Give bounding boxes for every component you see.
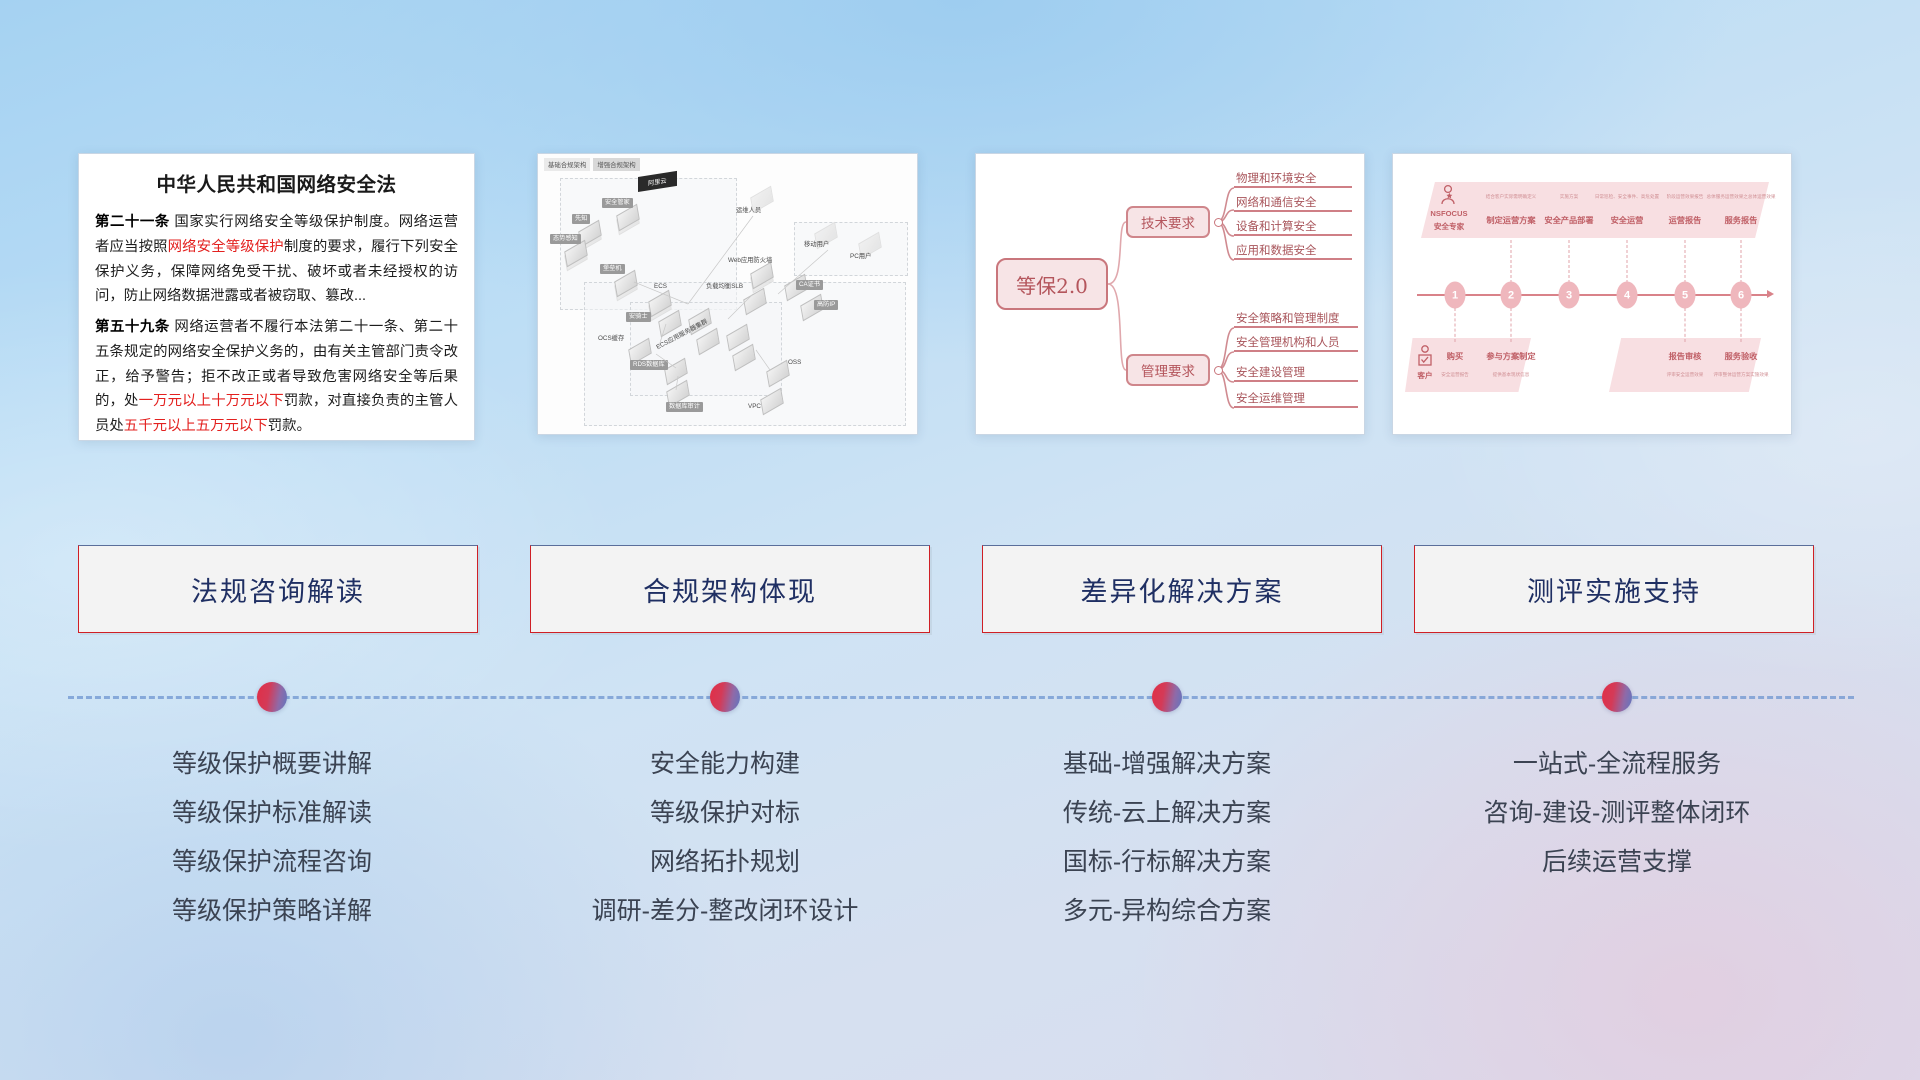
flow-step-4[interactable]: 4: [1617, 282, 1638, 309]
list-item: 国标-行标解决方案: [957, 838, 1377, 887]
article-59-text-c: 罚款。: [268, 418, 311, 434]
list-item: 等级保护策略详解: [62, 887, 482, 936]
timeline-dot-4[interactable]: [1602, 682, 1632, 712]
arch-node-security-butler: 安全管家: [602, 198, 633, 208]
card-service-flow[interactable]: NSFOCUS 安全专家 结合客户实际需明确定义 制定运营方案 实施方案 安全产…: [1392, 153, 1792, 435]
pillar-heading-label-2: 合规架构体现: [643, 570, 817, 609]
article-59-highlight-1: 一万元以上十万元以下: [139, 393, 284, 409]
pillar-heading-box-2[interactable]: 合规架构体现: [530, 545, 930, 633]
pillar-heading-box-1[interactable]: 法规咨询解读: [78, 545, 478, 633]
mindmap-leaf-physical-environment: 物理和环境安全: [1234, 172, 1352, 188]
flow-step-3[interactable]: 3: [1559, 282, 1580, 309]
arch-node-slb: 负载均衡SLB: [706, 284, 743, 291]
reference-cards-row: 中华人民共和国网络安全法 第二十一条 国家实行网络安全等级保护制度。网络运营者应…: [0, 153, 1920, 443]
arch-node-ocs-cache: OCS缓存: [598, 336, 624, 343]
list-item: 等级保护概要讲解: [62, 740, 482, 789]
timeline-dashed-line: [68, 696, 1854, 699]
service-flow-arrow-icon: [1767, 290, 1774, 298]
top-title-5: 服务报告: [1725, 214, 1758, 226]
list-item: 安全能力构建: [515, 740, 935, 789]
mindmap-collapse-dot-management[interactable]: [1214, 366, 1223, 375]
bottom-title-2: 参与方案制定: [1486, 350, 1535, 362]
mindmap-collapse-dot-technical[interactable]: [1214, 218, 1223, 227]
customer-label: 客户: [1417, 370, 1432, 381]
bottom-sub-1: 安全运营报告: [1441, 372, 1469, 378]
arch-node-oss: OSS: [788, 360, 801, 367]
law-article-59: 第五十九条 网络运营者不履行本法第二十一条、第二十五条规定的网络安全保护义务的，…: [95, 315, 458, 439]
bottom-title-4: 服务验收: [1725, 350, 1758, 362]
tab-enhanced-compliance[interactable]: 增强合规架构: [593, 158, 639, 171]
mindmap-leaf-security-policy: 安全策略和管理制度: [1234, 312, 1358, 328]
tick-bottom-2: [1511, 308, 1512, 342]
list-item: 一站式-全流程服务: [1407, 740, 1827, 789]
arch-node-anti-ddos-ip: 高防IP: [814, 300, 838, 310]
arch-node-db-audit: 数据库审计: [666, 402, 703, 412]
flow-step-6[interactable]: 6: [1731, 282, 1752, 309]
article-59-label: 第五十九条: [95, 319, 170, 335]
top-sub-1: 结合客户实际需明确定义: [1486, 194, 1537, 200]
top-title-3: 安全运营: [1611, 214, 1644, 226]
arch-node-ca-certificate: CA证书: [796, 280, 823, 290]
mindmap-branch-management: 管理要求: [1126, 354, 1210, 386]
list-item: 等级保护流程咨询: [62, 838, 482, 887]
timeline-dot-1[interactable]: [257, 682, 287, 712]
top-title-4: 运营报告: [1669, 214, 1702, 226]
pillar-heading-label-4: 测评实施支持: [1527, 570, 1701, 609]
bottom-sub-2: 提供基本现状信息: [1493, 372, 1530, 378]
top-sub-2: 实施方案: [1560, 194, 1578, 200]
tick-bottom-1: [1455, 308, 1456, 342]
arch-node-ops-staff: 运维人员: [736, 208, 761, 215]
list-item: 咨询-建设-测评整体闭环: [1407, 789, 1827, 838]
expert-label: NSFOCUS: [1430, 209, 1467, 218]
law-article-21: 第二十一条 国家实行网络安全等级保护制度。网络运营者应当按照网络安全等级保护制度…: [95, 210, 458, 309]
top-title-1: 制定运营方案: [1486, 214, 1535, 226]
flow-step-1[interactable]: 1: [1445, 282, 1466, 309]
law-title: 中华人民共和国网络安全法: [95, 168, 458, 197]
architecture-zone-users: [794, 222, 908, 276]
customer-icon: [1415, 344, 1437, 373]
service-flow-axis: [1417, 294, 1769, 296]
bottom-sub-3: 评审安全运营效果: [1667, 372, 1704, 378]
top-sub-3: 日常巡检、安全事件、高危处置: [1595, 194, 1659, 200]
tick-bottom-6: [1741, 308, 1742, 342]
architecture-tabs[interactable]: 基础合规架构 增强合规架构: [544, 158, 640, 171]
pillar-items-column-4: 一站式-全流程服务 咨询-建设-测评整体闭环 后续运营支撑: [1407, 740, 1827, 887]
pillar-items-column-2: 安全能力构建 等级保护对标 网络拓扑规划 调研-差分-整改闭环设计: [515, 740, 935, 936]
bottom-sub-4: 评审整体运营方案实施效果: [1713, 372, 1768, 378]
timeline-dot-3[interactable]: [1152, 682, 1182, 712]
arch-node-bastion-host: 堡垒机: [600, 264, 625, 274]
arch-node-ecs: ECS: [654, 284, 667, 291]
arch-node-anqishi: 安骑士: [626, 312, 651, 322]
article-59-highlight-2: 五千元以上五万元以下: [124, 418, 268, 434]
mindmap-leaf-application-data: 应用和数据安全: [1234, 244, 1352, 260]
article-21-highlight: 网络安全等级保护: [168, 239, 284, 255]
card-mindmap-dengbao[interactable]: 等保2.0 技术要求 物理和环境安全 网络和通信安全 设备和计算安全 应用和数据…: [975, 153, 1365, 435]
card-cybersecurity-law[interactable]: 中华人民共和国网络安全法 第二十一条 国家实行网络安全等级保护制度。网络运营者应…: [78, 153, 475, 441]
top-sub-5: 总体服务运营效果之总体运营效果: [1707, 194, 1776, 200]
arch-node-situational-awareness: 态势感知: [550, 234, 581, 244]
card-cloud-architecture[interactable]: 基础合规架构 增强合规架构 阿里云 安全管家 先知 态势感知: [537, 153, 918, 435]
mindmap-leaf-network-communication: 网络和通信安全: [1234, 196, 1352, 212]
arch-node-xianzhi: 先知: [572, 214, 590, 224]
pillar-heading-box-4[interactable]: 测评实施支持: [1414, 545, 1814, 633]
mindmap-leaf-org-personnel: 安全管理机构和人员: [1234, 336, 1358, 352]
article-21-label: 第二十一条: [95, 214, 170, 230]
arch-node-waf: Web应用防火墙: [728, 258, 772, 265]
list-item: 多元-异构综合方案: [957, 887, 1377, 936]
mindmap-leaf-construction-mgmt: 安全建设管理: [1234, 366, 1358, 382]
pillar-items-column-1: 等级保护概要讲解 等级保护标准解读 等级保护流程咨询 等级保护策略详解: [62, 740, 482, 936]
list-item: 等级保护标准解读: [62, 789, 482, 838]
mindmap-leaf-operations-mgmt: 安全运维管理: [1234, 392, 1358, 408]
bottom-title-1: 购买: [1447, 350, 1463, 362]
list-item: 基础-增强解决方案: [957, 740, 1377, 789]
flow-step-2[interactable]: 2: [1501, 282, 1522, 309]
bottom-title-3: 报告审核: [1669, 350, 1702, 362]
service-flow-top-band: [1421, 182, 1769, 238]
list-item: 传统-云上解决方案: [957, 789, 1377, 838]
list-item: 后续运营支撑: [1407, 838, 1827, 887]
service-flow-bottom-band-right: [1609, 338, 1761, 392]
mindmap-branch-technical: 技术要求: [1126, 206, 1210, 238]
list-item: 等级保护对标: [515, 789, 935, 838]
mindmap-leaf-device-computing: 设备和计算安全: [1234, 220, 1352, 236]
flow-step-5[interactable]: 5: [1675, 282, 1696, 309]
tick-bottom-5: [1685, 308, 1686, 342]
security-expert-icon: [1437, 184, 1461, 211]
arch-node-vpc: VPC: [748, 404, 761, 411]
pillar-items-column-3: 基础-增强解决方案 传统-云上解决方案 国标-行标解决方案 多元-异构综合方案: [957, 740, 1377, 936]
arch-node-rds: RDS数据库: [630, 360, 668, 370]
pillar-heading-label-3: 差异化解决方案: [1081, 570, 1284, 609]
pillar-heading-label-1: 法规咨询解读: [191, 570, 365, 609]
mindmap-root: 等保2.0: [996, 258, 1108, 310]
expert-label-sub: 安全专家: [1434, 221, 1464, 232]
pillar-heading-box-3[interactable]: 差异化解决方案: [982, 545, 1382, 633]
top-sub-4: 阶段运营效果报告: [1667, 194, 1704, 200]
list-item: 调研-差分-整改闭环设计: [515, 887, 935, 936]
arch-node-mobile-user: 移动用户: [804, 242, 829, 249]
arch-node-pc-user: PC用户: [850, 254, 871, 261]
list-item: 网络拓扑规划: [515, 838, 935, 887]
top-title-2: 安全产品部署: [1544, 214, 1593, 226]
timeline-dot-2[interactable]: [710, 682, 740, 712]
tab-basic-compliance[interactable]: 基础合规架构: [544, 158, 590, 171]
